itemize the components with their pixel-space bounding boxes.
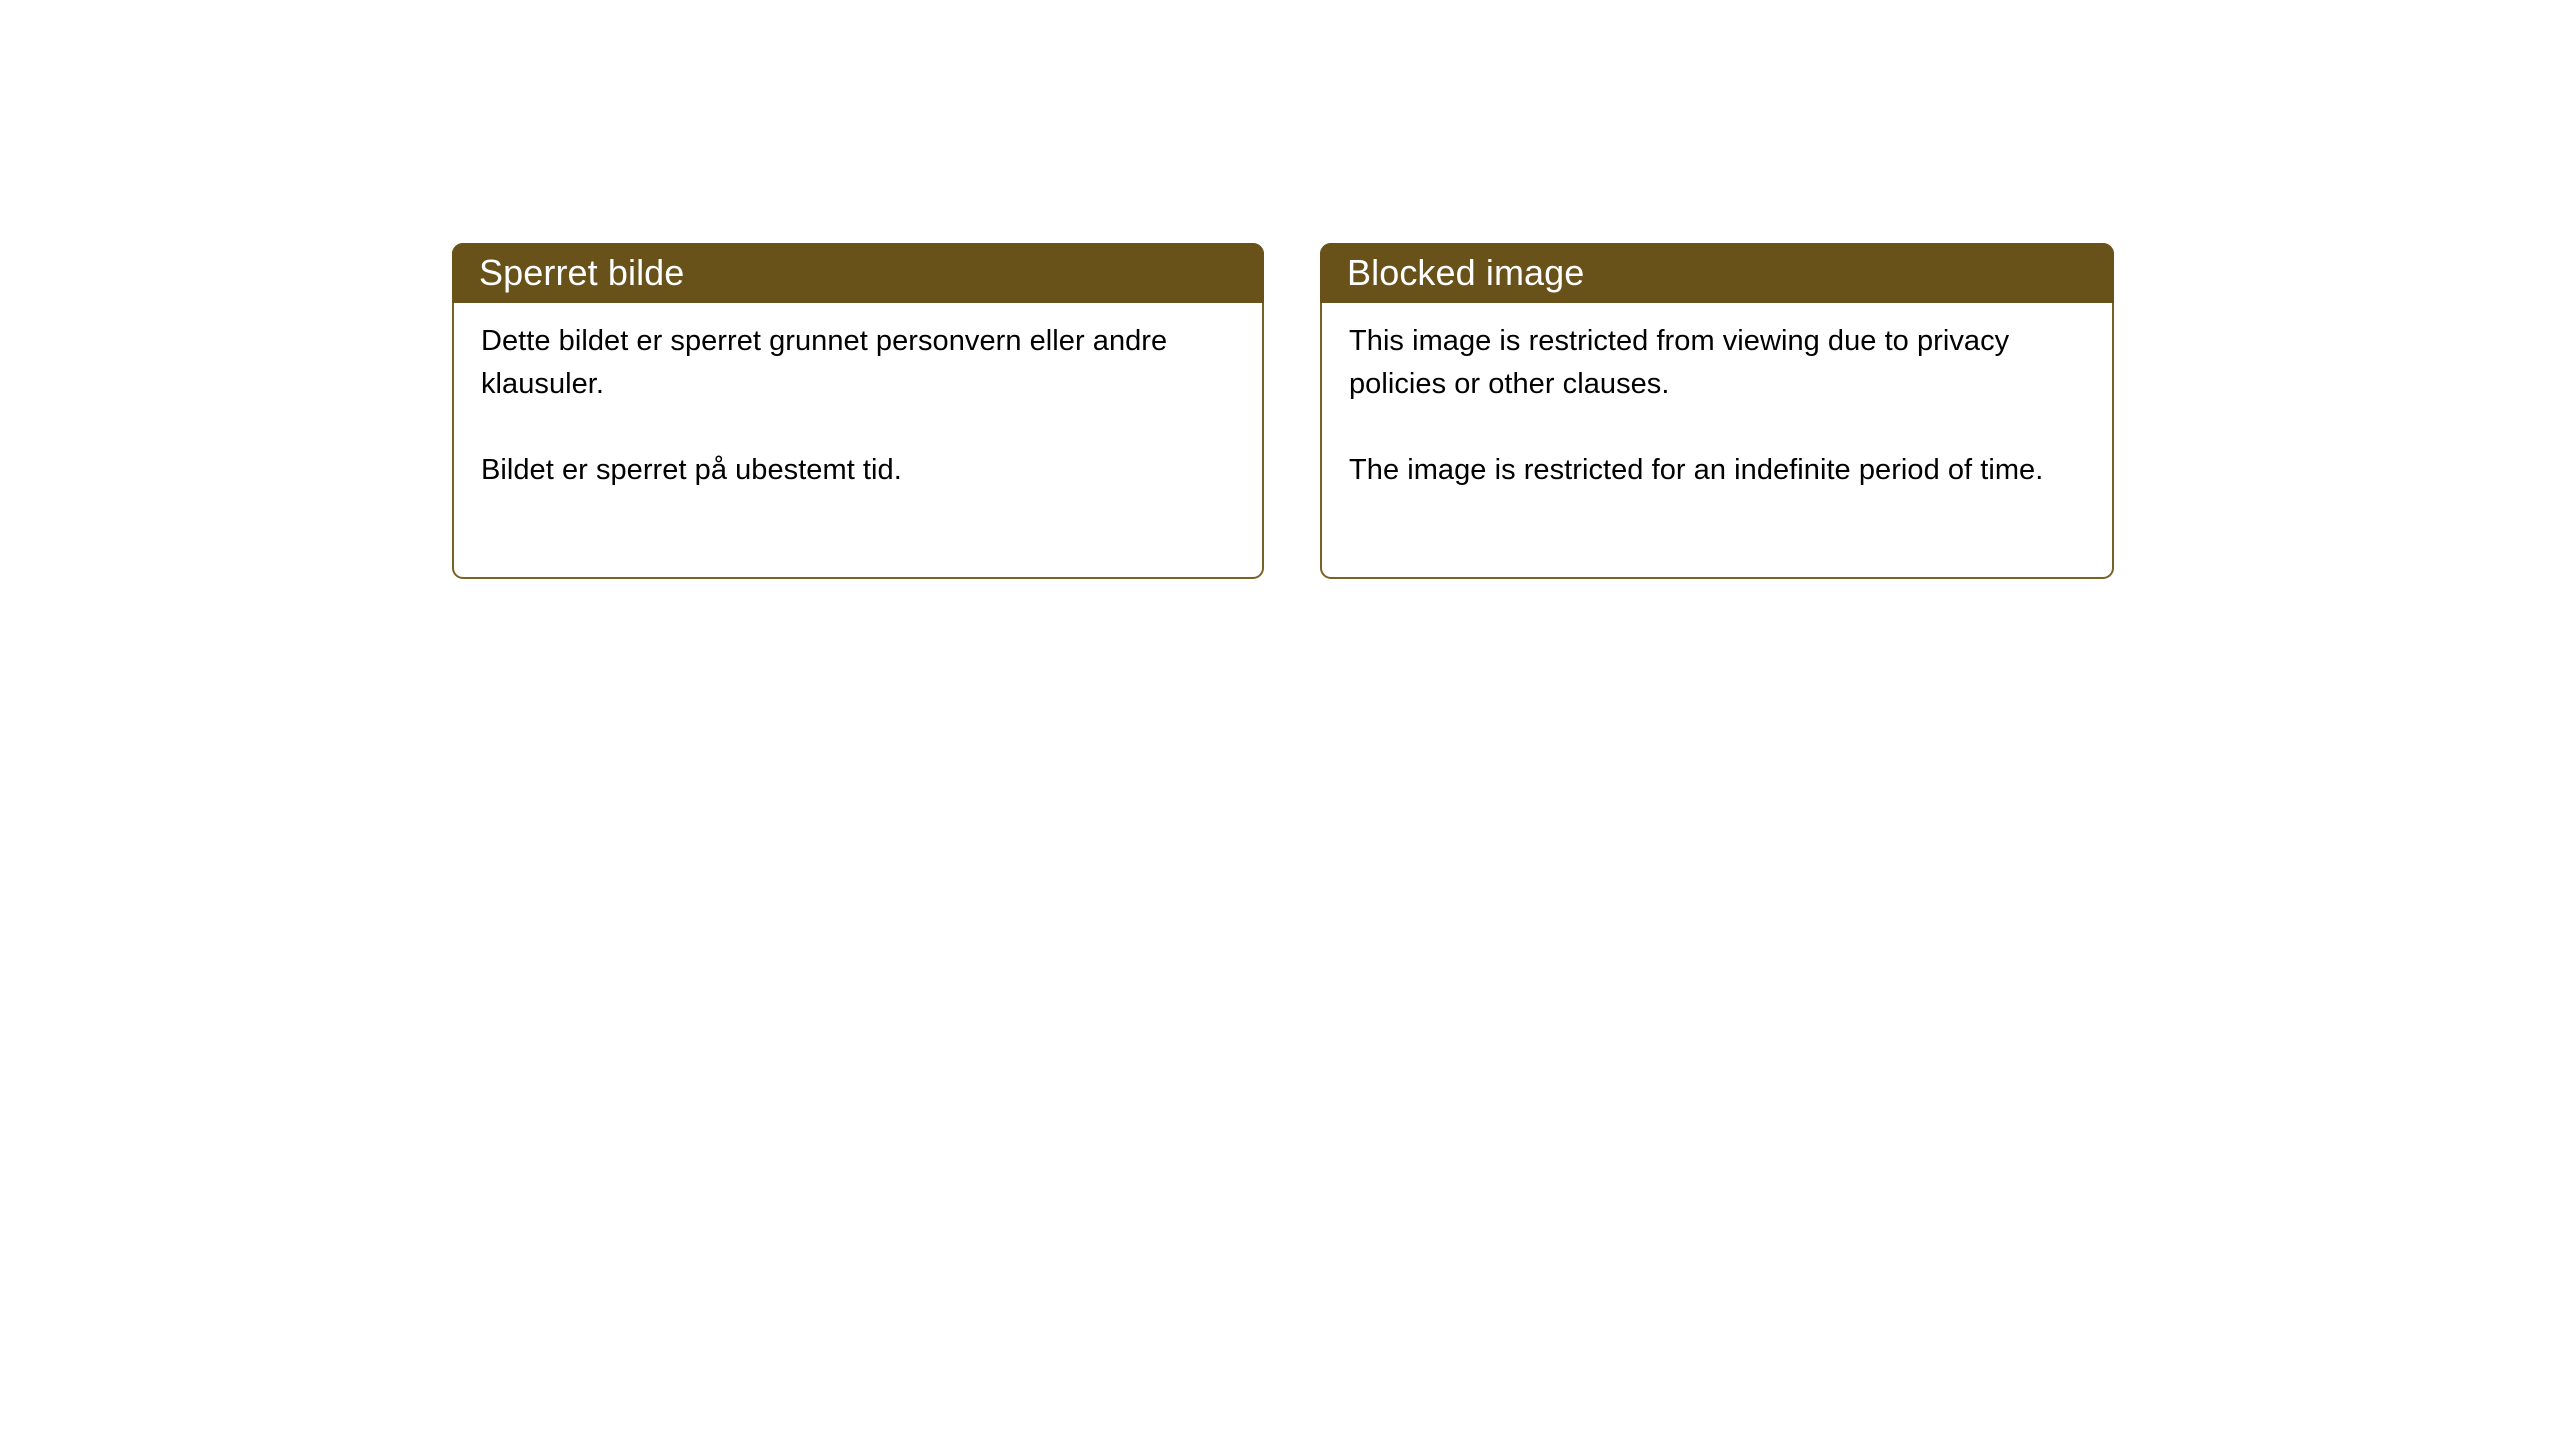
notice-title-no: Sperret bilde — [479, 253, 684, 293]
notice-body-en: This image is restricted from viewing du… — [1322, 303, 2112, 577]
notice-paragraph-reason-en: This image is restricted from viewing du… — [1349, 320, 2092, 406]
blocked-image-notice-en: Blocked image This image is restricted f… — [1320, 243, 2114, 579]
notice-body-no: Dette bildet er sperret grunnet personve… — [454, 303, 1262, 577]
notice-paragraph-reason-no: Dette bildet er sperret grunnet personve… — [481, 320, 1242, 406]
notice-title-en: Blocked image — [1347, 253, 1584, 293]
notice-header-no: Sperret bilde — [452, 243, 1264, 303]
notice-paragraph-duration-en: The image is restricted for an indefinit… — [1349, 449, 2092, 492]
blocked-image-notice-no: Sperret bilde Dette bildet er sperret gr… — [452, 243, 1264, 579]
notice-paragraph-duration-no: Bildet er sperret på ubestemt tid. — [481, 449, 1242, 492]
notice-header-en: Blocked image — [1320, 243, 2114, 303]
page-canvas: Sperret bilde Dette bildet er sperret gr… — [0, 0, 2560, 1440]
